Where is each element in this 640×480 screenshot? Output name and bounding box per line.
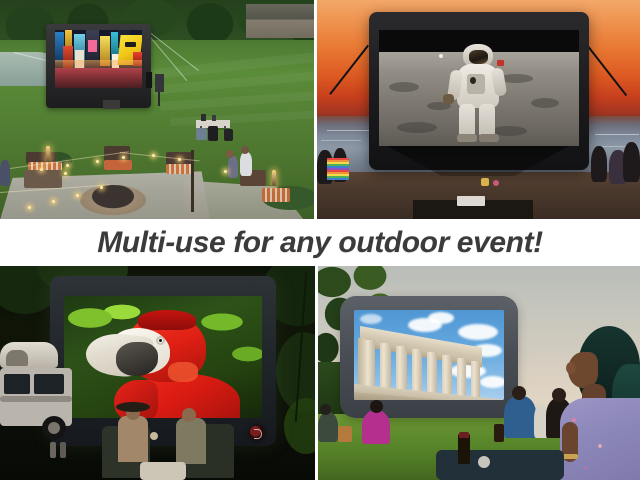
br-bottle <box>494 424 504 442</box>
bl-van-hubcap <box>48 422 60 434</box>
tl-torch-light <box>272 170 276 186</box>
bl-brand-logo-icon <box>249 425 265 441</box>
tl-table-item <box>201 114 206 121</box>
bl-picnic-item <box>140 462 186 480</box>
tr-water-glint <box>321 140 361 141</box>
tl-guest <box>240 152 252 176</box>
br-picnicker-head <box>370 400 383 413</box>
bl-projection-screen <box>64 296 262 418</box>
tl-string-bulb <box>28 206 31 209</box>
tl-guest <box>0 160 10 186</box>
tr-beach-toy <box>481 178 489 186</box>
bl-camp-gear <box>60 442 66 458</box>
bl-macaw-crown <box>138 310 196 330</box>
bl-van-trim <box>0 396 72 402</box>
bl-camper-hand <box>150 432 158 440</box>
tl-armchair-cushion <box>104 160 132 170</box>
tl-string-bulb <box>96 160 99 163</box>
tl-guest-head <box>241 146 249 154</box>
tr-astronaut-glove <box>443 94 454 104</box>
bl-macaw-lower-beak <box>116 342 158 376</box>
caption-text: Multi-use for any outdoor event! <box>97 226 543 260</box>
tr-water-glint <box>595 134 639 135</box>
photo-collage: Multi-use for any outdoor event! <box>0 0 640 480</box>
tr-astronaut-control <box>470 77 476 84</box>
tl-fire-pit <box>80 185 146 215</box>
tl-torch-light <box>46 146 50 162</box>
bl-camp-gear <box>50 442 56 458</box>
tl-lounge-base <box>24 170 62 188</box>
tl-equipment-box <box>103 100 120 109</box>
bl-tent-window <box>6 350 28 366</box>
br-picnic-plate <box>478 456 490 468</box>
tl-string-bulb <box>40 168 43 171</box>
bl-van-window <box>34 374 64 394</box>
tl-cooler <box>196 128 207 140</box>
tl-speaker-right <box>155 74 164 92</box>
br-picnicker-head <box>512 386 526 400</box>
panel-bottom-right-park <box>318 266 640 480</box>
tr-beachgoer <box>591 146 607 182</box>
br-picnicker-pink <box>362 410 390 444</box>
bl-camper-hat <box>116 402 150 412</box>
br-wine-bottle <box>458 434 470 464</box>
br-picnic-basket <box>338 426 352 442</box>
tr-water-glint <box>327 130 373 131</box>
br-wine-bottle-neck <box>459 432 469 438</box>
tr-astronaut-chestpack <box>467 74 485 94</box>
tl-speaker-stand <box>158 92 160 106</box>
bl-macaw-neck <box>168 362 198 382</box>
tl-string-bulb <box>178 158 181 161</box>
panel-top-right-beach <box>317 0 640 219</box>
bl-macaw-pupil <box>159 339 162 342</box>
tl-guest <box>228 156 238 178</box>
tl-armchair-cushion <box>262 188 290 202</box>
br-projection-screen <box>354 310 504 400</box>
br-picnicker-head <box>320 404 331 415</box>
tl-string-bulb <box>76 194 79 197</box>
tl-table-item <box>212 115 216 121</box>
tl-string-bulb <box>66 164 69 167</box>
bl-van-window <box>4 374 30 394</box>
br-woman-nose <box>566 362 576 374</box>
br-picnicker <box>318 412 338 442</box>
tl-bag <box>208 126 218 141</box>
bl-camper-person-left <box>118 416 148 462</box>
tl-speaker-left <box>146 72 152 88</box>
tl-bag <box>224 129 233 141</box>
panel-top-left-backyard <box>0 0 314 219</box>
tr-astronaut-leg-left <box>459 104 475 138</box>
tr-astronaut-leg-right <box>479 104 495 138</box>
tr-astronaut-boot <box>457 134 477 142</box>
tl-string-bulb <box>152 154 155 157</box>
tl-string-bulb <box>122 156 125 159</box>
tr-beach-towel <box>327 158 349 180</box>
tl-string-bulb <box>64 172 67 175</box>
panel-bottom-left-campsite <box>0 266 315 480</box>
tl-string-bulb <box>224 170 227 173</box>
tr-projector <box>457 196 485 206</box>
tr-astronaut-visor <box>469 50 488 64</box>
bl-camper-head-right <box>182 408 196 422</box>
tr-moon-earth-dot <box>439 54 443 58</box>
bl-camper-person-right <box>176 418 206 464</box>
br-foreground-woman <box>556 326 640 480</box>
tr-astronaut-flag-patch <box>497 60 504 66</box>
tr-beachgoer <box>623 142 640 182</box>
tr-beach-toy <box>493 180 499 186</box>
tl-projection-screen <box>55 30 142 88</box>
tr-astronaut-boot <box>479 134 499 142</box>
tl-string-bulb <box>52 200 55 203</box>
br-picnicker-blue <box>504 396 536 438</box>
tl-string-bulb <box>100 186 103 189</box>
br-picnic-blanket <box>436 450 564 480</box>
bl-camper-van <box>0 342 92 460</box>
tl-armchair-cushion <box>166 164 194 174</box>
caption-banner: Multi-use for any outdoor event! <box>0 219 640 266</box>
tl-house <box>246 4 314 38</box>
tl-guest-head <box>226 150 234 158</box>
br-woman-watch <box>562 454 578 459</box>
tr-projection-screen <box>379 30 579 146</box>
